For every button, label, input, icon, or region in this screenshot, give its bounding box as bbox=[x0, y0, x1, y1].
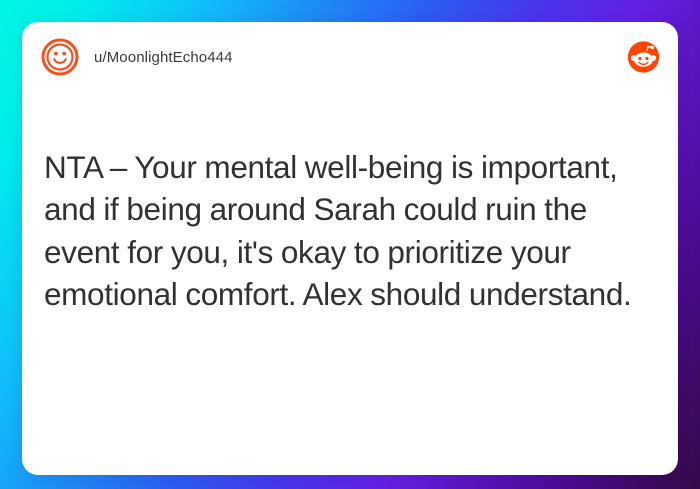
username-label: u/MoonlightEcho444 bbox=[94, 49, 233, 66]
reddit-comment-card: u/MoonlightEcho444 NTA – Your mental wel… bbox=[22, 22, 678, 475]
comment-text: NTA – Your mental well-being is importan… bbox=[44, 146, 656, 315]
card-header: u/MoonlightEcho444 bbox=[22, 22, 678, 92]
reddit-snoo-icon[interactable] bbox=[627, 41, 660, 74]
card-body: NTA – Your mental well-being is importan… bbox=[22, 92, 678, 315]
smiley-face-avatar-icon bbox=[40, 37, 80, 77]
